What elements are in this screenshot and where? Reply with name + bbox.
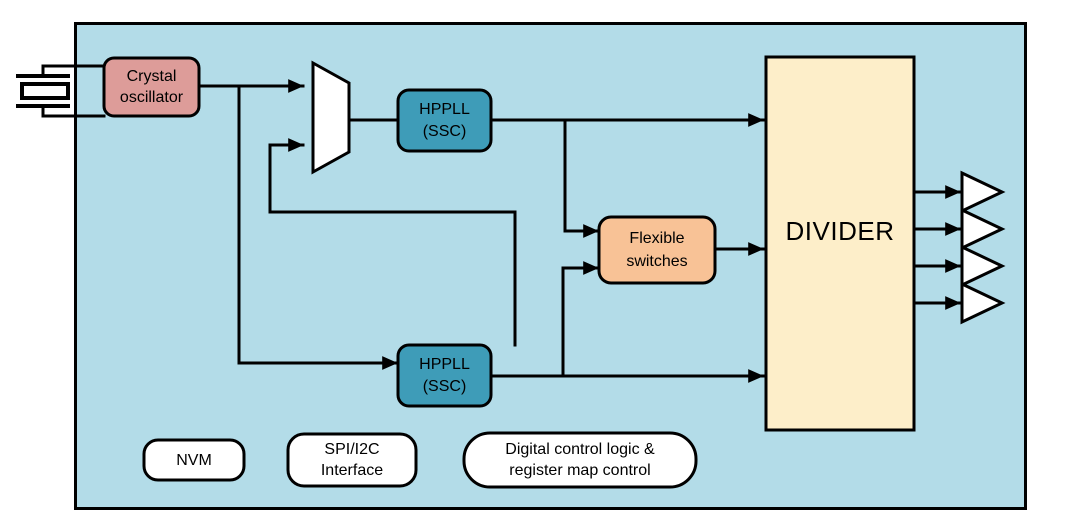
flexible-switches-block: Flexible switches [599,217,715,283]
hppll-bottom-label-line2: (SSC) [423,378,467,395]
crystal-oscillator-label-line2: oscillator [120,89,184,106]
digital-control-label-line2: register map control [509,462,650,479]
spi-i2c-label-line2: Interface [321,462,383,479]
spi-i2c-interface-block: SPI/I2C Interface [288,434,416,486]
diagram-canvas: Crystal oscillator HPPLL (SSC) [0,0,1067,530]
block-diagram: Crystal oscillator HPPLL (SSC) [0,0,1067,530]
divider-block: DIVIDER [766,57,914,430]
nvm-block: NVM [144,440,244,480]
crystal-oscillator-block: Crystal oscillator [104,58,199,116]
hppll-top-label-line1: HPPLL [419,101,470,118]
spi-i2c-label-line1: SPI/I2C [324,441,379,458]
digital-control-block: Digital control logic & register map con… [464,433,696,487]
flexible-switches-label-line2: switches [626,253,687,270]
hppll-bottom-block: HPPLL (SSC) [398,345,491,406]
flexible-switches-label-line1: Flexible [629,230,684,247]
crystal-oscillator-label-line1: Crystal [127,68,177,85]
hppll-top-block: HPPLL (SSC) [398,90,491,151]
multiplexer-icon [313,63,349,172]
nvm-label: NVM [176,452,212,469]
hppll-bottom-label-line1: HPPLL [419,356,470,373]
hppll-top-label-line2: (SSC) [423,123,467,140]
digital-control-label-line1: Digital control logic & [505,441,655,458]
divider-label: DIVIDER [786,216,895,246]
